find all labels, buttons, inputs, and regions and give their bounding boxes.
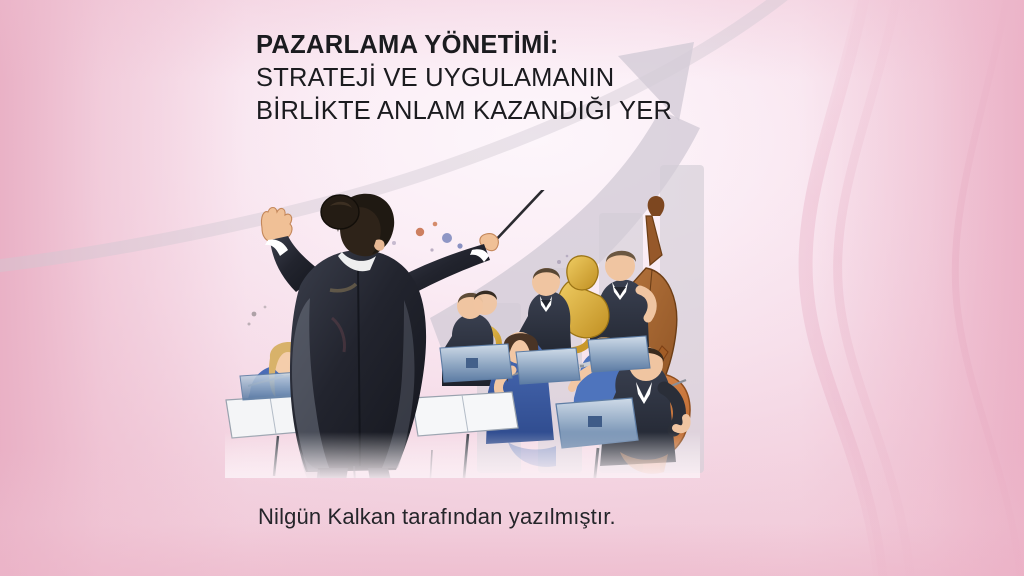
music-stand-blue-left <box>440 344 512 382</box>
watercolor-drips <box>225 432 700 498</box>
artwork-bottom-fade <box>225 432 700 480</box>
conductor-hair-bun <box>321 195 359 229</box>
stand-blue-right-face <box>588 336 650 372</box>
presentation-slide: PAZARLAMA YÖNETİMİ: STRATEJİ VE UYGULAMA… <box>0 0 1024 576</box>
double-bass-scroll <box>648 196 665 216</box>
stand-blue-left-clip <box>466 358 478 368</box>
title-block: PAZARLAMA YÖNETİMİ: STRATEJİ VE UYGULAMA… <box>256 29 896 128</box>
author-credit: Nilgün Kalkan tarafından yazılmıştır. <box>258 504 616 530</box>
music-stand-blue-right <box>588 336 650 372</box>
title-line-2: STRATEJİ VE UYGULAMANIN <box>256 62 896 95</box>
stand-blue-front-clip <box>588 416 602 427</box>
violinist-back <box>473 291 497 315</box>
title-line-3: BİRLİKTE ANLAM KAZANDIĞI YER <box>256 95 896 128</box>
double-bass-neck <box>646 216 662 265</box>
tuba-upper-bow <box>567 256 598 290</box>
conductor-baton <box>493 176 556 243</box>
title-line-1: PAZARLAMA YÖNETİMİ: <box>256 29 896 62</box>
orchestra-artwork-group <box>225 176 700 520</box>
music-stand-blue-mid <box>516 348 580 384</box>
stand-blue-mid-face <box>516 348 580 384</box>
